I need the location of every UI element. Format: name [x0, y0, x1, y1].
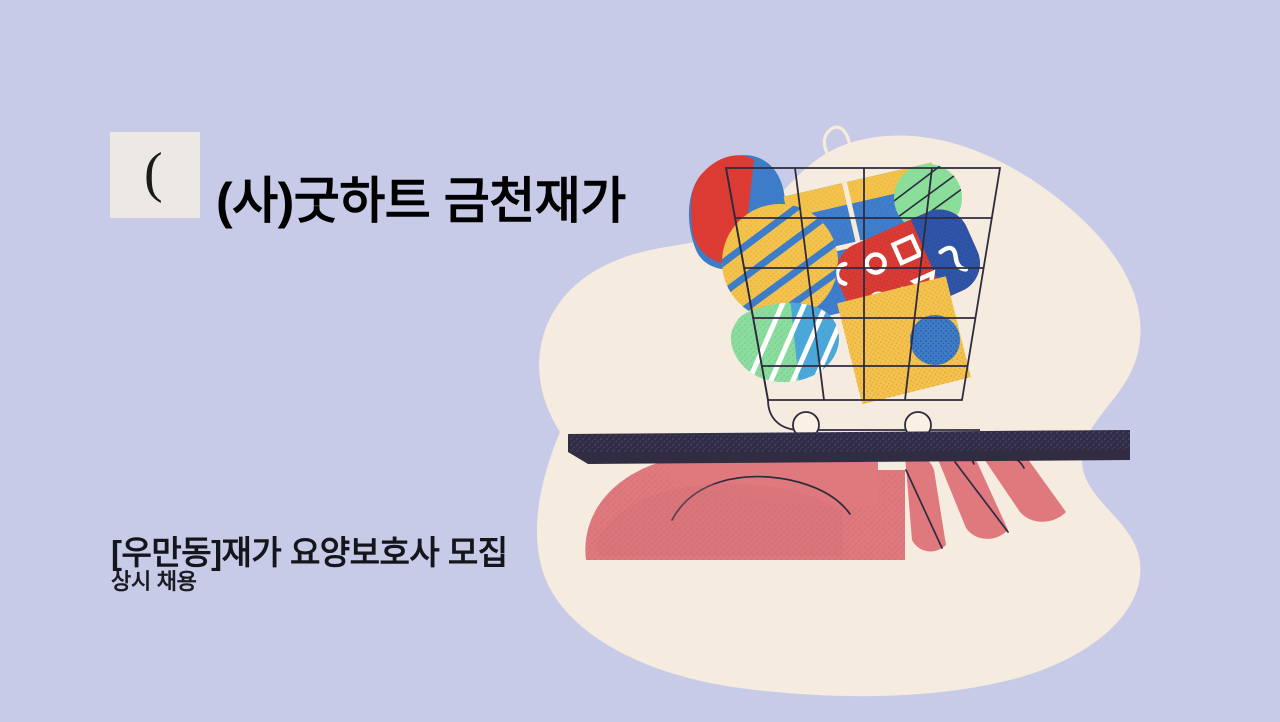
blue-speckled-ball — [910, 315, 960, 365]
job-posting-card: ( (사)굿하트 금천재가 [우만동]재가 요양보호사 모집 상시 채용 — [0, 0, 1280, 722]
employment-type: 상시 채용 — [111, 569, 197, 595]
red-blue-blob — [689, 155, 785, 269]
gift-bow-icon — [824, 127, 895, 180]
red-pattern-card — [827, 198, 994, 335]
company-logo-text: ( — [144, 132, 163, 216]
green-striped-circle — [890, 160, 966, 234]
company-logo[interactable]: ( — [110, 132, 200, 218]
illustration-shopping-cart — [0, 0, 1280, 722]
hand-holding-bar — [585, 446, 1066, 560]
cart-wheel-right — [905, 412, 931, 438]
shopping-cart-frame — [726, 168, 1000, 430]
dark-bar — [568, 430, 1130, 464]
yellow-striped-circle — [716, 196, 846, 336]
company-name: (사)굿하트 금천재가 — [216, 173, 626, 229]
cart-contents — [689, 127, 993, 404]
fingers — [905, 446, 1066, 551]
job-title: [우만동]재가 요양보호사 모집 — [111, 533, 508, 573]
green-white-striped-blob — [724, 296, 850, 392]
cream-blob — [537, 136, 1141, 697]
cart-wheels — [793, 412, 931, 438]
yellow-orange-square — [837, 276, 971, 404]
illustration-background — [0, 0, 1280, 722]
cart-wheel-left — [793, 412, 819, 438]
blue-gift-box-with-bow — [784, 127, 960, 319]
